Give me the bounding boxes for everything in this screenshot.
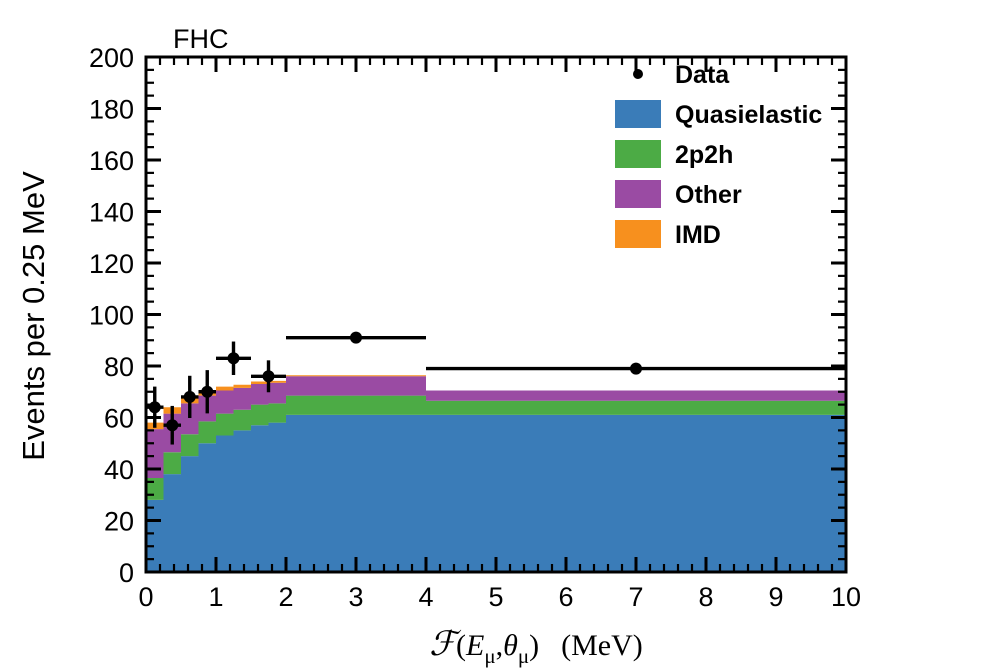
x-tick-label: 8 (698, 582, 713, 612)
mu-subscript-2: μ (518, 644, 529, 668)
x-tick-label: 7 (628, 582, 643, 612)
energy-symbol: E (465, 629, 484, 662)
x-tick-label: 1 (208, 582, 223, 612)
legend-label: 2p2h (675, 141, 733, 169)
legend-label: Quasielastic (675, 101, 822, 129)
plot-canvas: Events per 0.25 MeV FHC 0204060801001201… (0, 0, 996, 672)
marker (184, 391, 196, 403)
y-tick-label: 40 (104, 455, 134, 485)
x-unit: (MeV) (561, 629, 643, 662)
physics-stacked-histogram: Events per 0.25 MeV FHC 0204060801001201… (0, 0, 996, 672)
marker (350, 332, 362, 344)
x-tick-label: 4 (418, 582, 433, 612)
legend-entry-other: Other (615, 180, 742, 209)
y-tick-label: 180 (89, 95, 134, 125)
marker (228, 352, 240, 364)
stacked-histogram-bands (146, 375, 846, 572)
x-tick-label: 0 (138, 582, 153, 612)
y-tick-label: 0 (119, 558, 134, 588)
legend-label: Other (675, 181, 742, 209)
comma-sep: , (496, 629, 504, 662)
band-quasielastic (146, 415, 846, 572)
legend-entry-quasielastic: Quasielastic (615, 100, 822, 129)
marker (201, 386, 213, 398)
y-tick-label: 140 (89, 198, 134, 228)
x-tick-label: 9 (768, 582, 783, 612)
svg-text:ℱ(Eμ,θμ)(MeV): ℱ(Eμ,θμ)(MeV) (429, 626, 642, 668)
legend-swatch (615, 220, 661, 248)
y-tick-label: 120 (89, 249, 134, 279)
y-tick-label: 20 (104, 507, 134, 537)
legend-marker-point (633, 69, 643, 79)
x-tick-label: 3 (348, 582, 363, 612)
legend-label: Data (675, 61, 730, 89)
paren-close: ) (529, 629, 539, 662)
x-tick-label: 10 (831, 582, 861, 612)
y-axis-title: Events per 0.25 MeV (16, 171, 51, 461)
y-tick-label: 200 (89, 43, 134, 73)
legend-entry-2p2h: 2p2h (615, 140, 733, 169)
y-tick-label: 60 (104, 404, 134, 434)
x-tick-label: 2 (278, 582, 293, 612)
legend-label: IMD (675, 221, 721, 249)
legend-swatch (615, 100, 661, 128)
y-tick-label: 80 (104, 352, 134, 382)
y-tick-label: 100 (89, 301, 134, 331)
marker (263, 370, 275, 382)
marker (149, 401, 161, 413)
theta-symbol: θ (503, 629, 518, 662)
x-tick-label: 5 (488, 582, 503, 612)
x-axis-title: ℱ(Eμ,θμ)(MeV) (429, 626, 642, 668)
marker (166, 419, 178, 431)
y-tick-label: 160 (89, 146, 134, 176)
marker (630, 363, 642, 375)
mu-subscript-1: μ (484, 644, 495, 668)
legend-swatch (615, 180, 661, 208)
paren-open: ( (456, 629, 466, 662)
x-tick-label: 6 (558, 582, 573, 612)
panel-label-fhc: FHC (173, 24, 229, 54)
legend-swatch (615, 140, 661, 168)
